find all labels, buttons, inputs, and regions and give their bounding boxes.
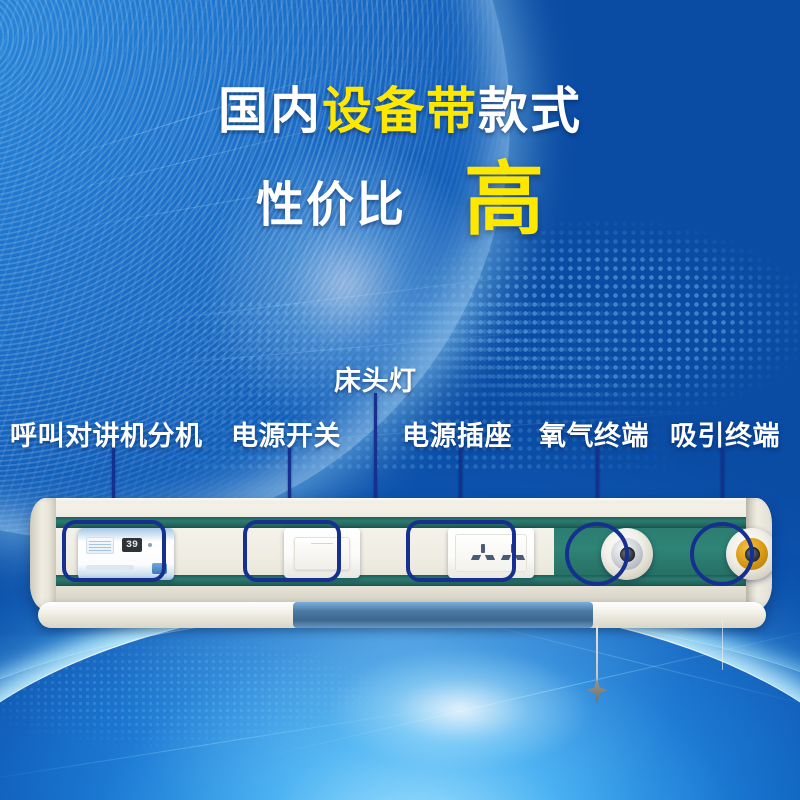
- highlight-box-power-switch: [243, 520, 341, 582]
- callout-label-oxygen-outlet: 氧气终端: [539, 414, 649, 453]
- poster-canvas: 国内设备带款式 性价比 高 呼叫对讲机分机 电源开关 床头灯 电源插座 氧气终端…: [0, 0, 800, 800]
- highlight-circle-oxygen-outlet: [565, 522, 629, 586]
- panel-lower-rail: [38, 602, 766, 628]
- callout-label-power-switch: 电源开关: [231, 414, 341, 453]
- callout-layer: 呼叫对讲机分机 电源开关 床头灯 电源插座 氧气终端 吸引终端: [0, 0, 800, 800]
- callout-label-suction-outlet: 吸引终端: [670, 414, 780, 453]
- highlight-circle-suction-outlet: [690, 522, 754, 586]
- rail-blue-section: [293, 602, 593, 628]
- highlight-box-call-intercom: [62, 520, 166, 582]
- callout-label-call-intercom: 呼叫对讲机分机: [10, 414, 203, 453]
- highlight-box-power-socket: [406, 520, 516, 582]
- suction-hose-line: [722, 620, 723, 670]
- panel-end-cap-left: [30, 498, 56, 610]
- callout-label-power-socket: 电源插座: [402, 414, 512, 453]
